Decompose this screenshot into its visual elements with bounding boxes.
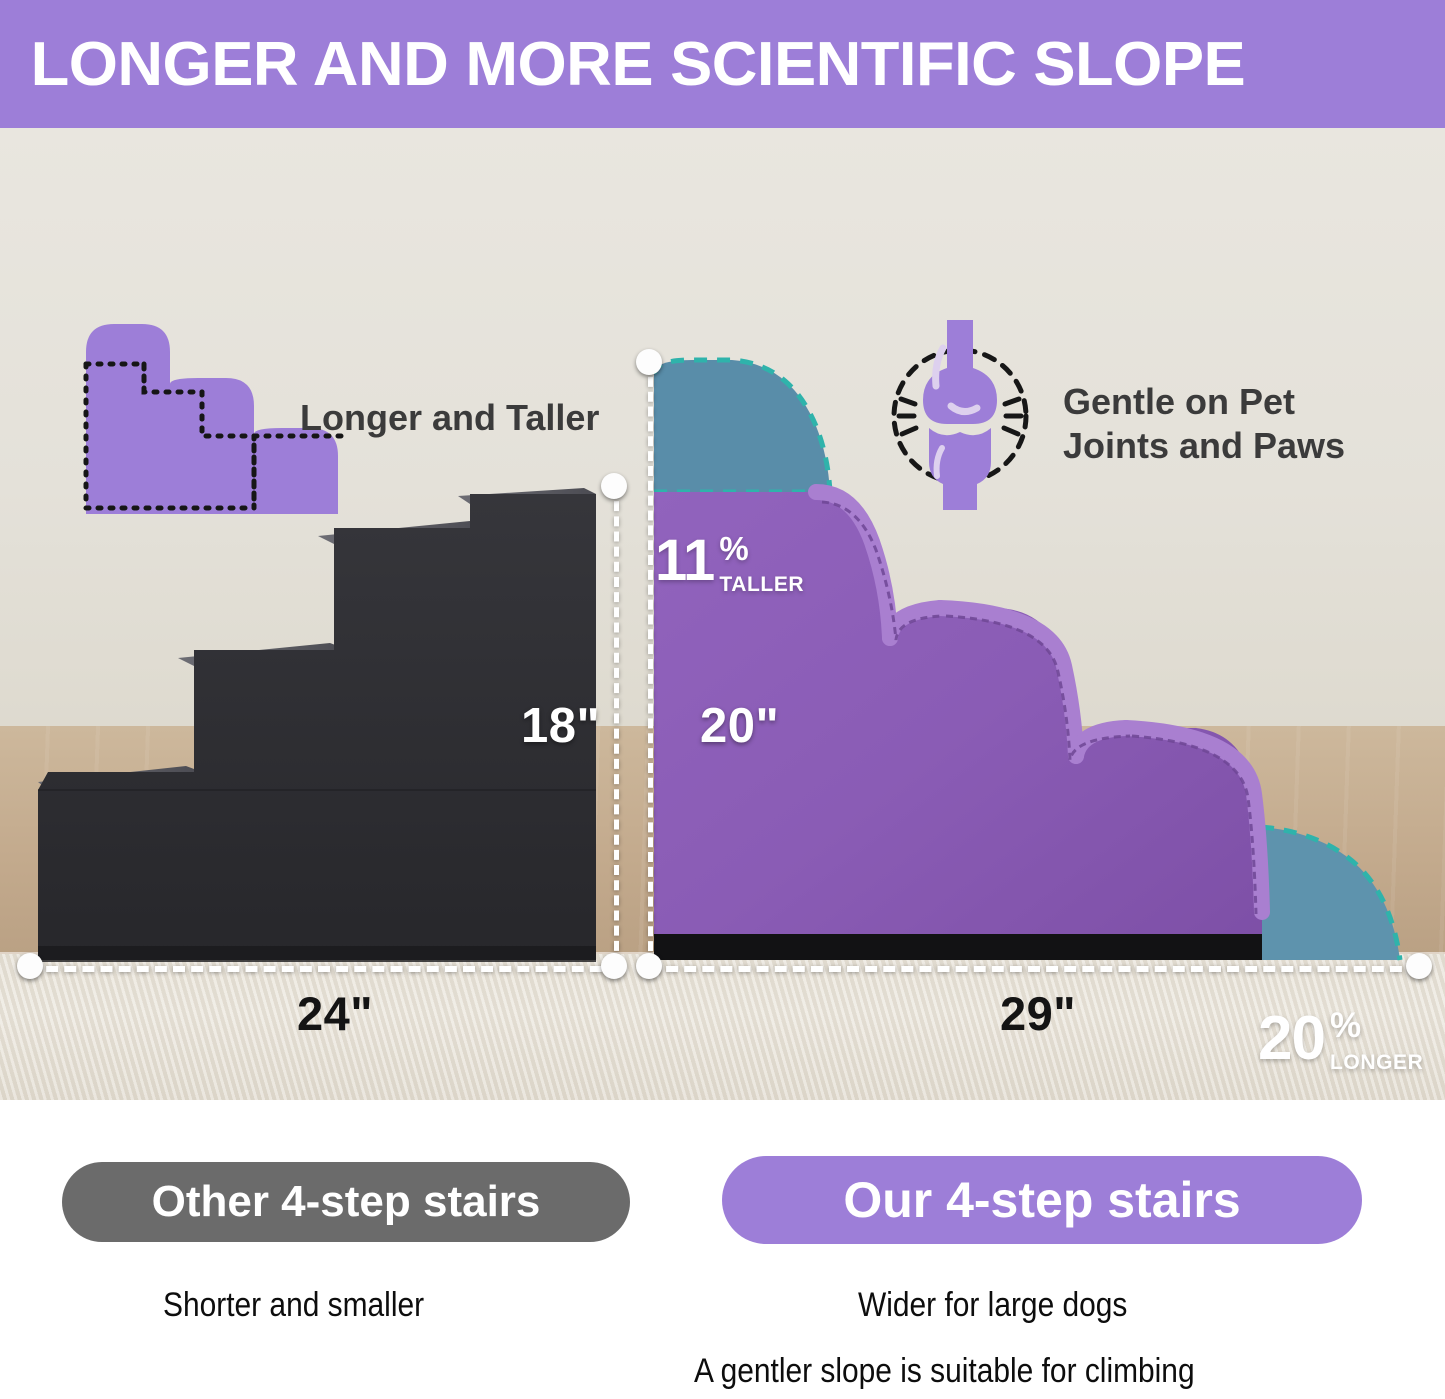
our-product-caption-line2: A gentler slope is suitable for climbing: [694, 1352, 1195, 1391]
measurement-dot: [601, 953, 627, 979]
measurement-dot: [636, 953, 662, 979]
measurement-line-other-length: [28, 966, 620, 972]
badge-value: 20: [1258, 1008, 1325, 1070]
measurement-dot: [1406, 953, 1432, 979]
page-title: LONGER AND MORE SCIENTIFIC SLOPE: [0, 29, 1245, 100]
measurement-dot: [636, 349, 662, 375]
badge-11-percent-taller: 11 % TALLER: [655, 532, 804, 595]
other-product-pill: Other 4-step stairs: [62, 1162, 630, 1242]
dimension-label-other-height: 18": [521, 698, 600, 754]
dimension-label-our-height: 20": [700, 698, 779, 754]
badge-sublabel: TALLER: [719, 574, 804, 595]
other-product-caption: Shorter and smaller: [163, 1286, 424, 1325]
our-product-pill: Our 4-step stairs: [722, 1156, 1362, 1244]
dimension-label-our-length: 29": [1000, 986, 1076, 1041]
badge-percent-sign: %: [1330, 1008, 1423, 1043]
measurement-line-our-height: [648, 362, 653, 966]
measurement-dot: [601, 473, 627, 499]
badge-20-percent-longer: 20 % LONGER: [1258, 1008, 1423, 1073]
badge-sublabel: LONGER: [1330, 1052, 1423, 1073]
measurement-line-our-length: [648, 966, 1420, 972]
our-stairs-product: [640, 356, 1430, 970]
dimension-label-other-length: 24": [297, 986, 373, 1041]
measurement-dot: [17, 953, 43, 979]
header-banner: LONGER AND MORE SCIENTIFIC SLOPE: [0, 0, 1445, 128]
our-product-caption-line1: Wider for large dogs: [858, 1286, 1127, 1325]
feature-label-longer-taller: Longer and Taller: [300, 396, 599, 440]
scene-rug-texture: [0, 954, 1445, 1100]
comparison-summary: Other 4-step stairs Our 4-step stairs Sh…: [0, 1100, 1445, 1399]
badge-value: 11: [655, 532, 714, 590]
badge-percent-sign: %: [719, 532, 804, 565]
product-comparison-scene: Longer and Taller Gentle on Pet Joint: [0, 128, 1445, 1100]
measurement-line-other-height: [614, 486, 619, 966]
